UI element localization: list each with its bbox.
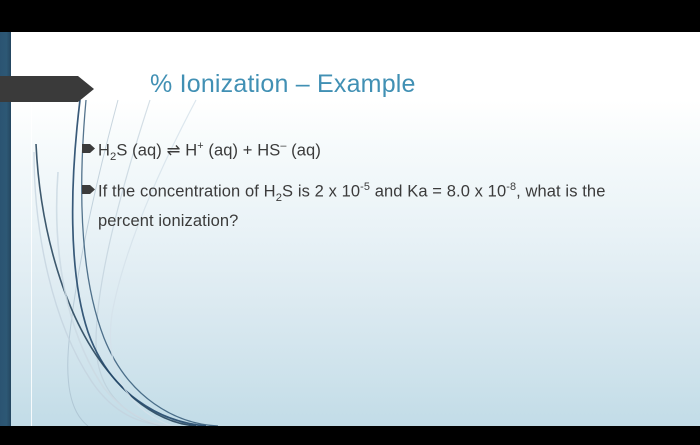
letterbox-bottom [0,426,700,445]
list-item: H2S (aq) ⇌ H+ (aq) + HS– (aq) [82,135,662,169]
list-item: If the concentration of H2S is 2 x 10-5 … [82,176,662,233]
slide-title: % Ionization – Example [150,70,416,99]
bullet-text-question: If the concentration of H2S is 2 x 10-5 … [98,176,662,233]
bullet-text-equation: H2S (aq) ⇌ H+ (aq) + HS– (aq) [98,135,662,169]
arrow-pennant-bullet-icon [82,176,96,199]
letterbox-top [0,0,700,32]
presentation-slide: % Ionization – Example H2S (aq) ⇌ H+ (aq… [0,32,700,426]
slide-body-bullets: H2S (aq) ⇌ H+ (aq) + HS– (aq) If the con… [82,135,662,240]
arrow-pennant-bullet-icon [82,135,96,158]
video-slide-viewer: % Ionization – Example H2S (aq) ⇌ H+ (aq… [0,0,700,445]
title-arrow-banner [0,76,94,102]
vertical-rule [31,100,32,426]
